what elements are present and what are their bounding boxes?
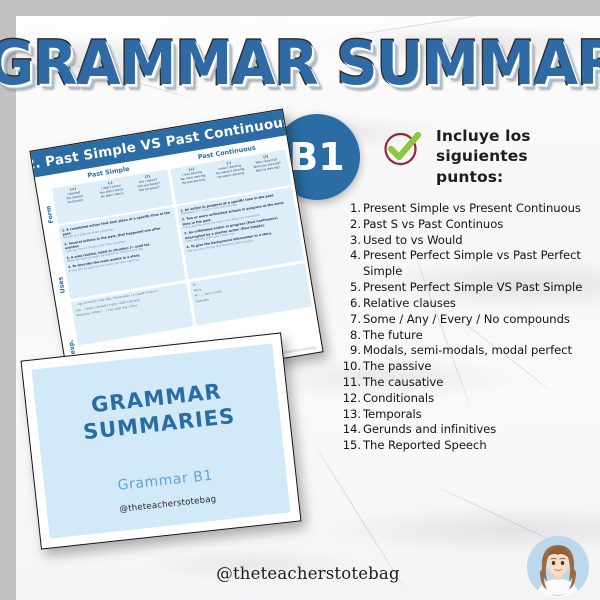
form-lines: I was dancing You were dancing He was da… [180,170,206,185]
list-item: 2.Past S vs Past Continuos [341,217,600,233]
list-item-label: Present Perfect Simple vs Past Perfect S… [363,248,600,280]
form-lines: I didn't dance You didn't dance He didn'… [100,184,124,199]
list-item-number: 15. [341,438,363,454]
list-item: 4.Present Perfect Simple vs Past Perfect… [341,248,600,280]
list-item: 14.Gerunds and infinitives [341,422,600,438]
form-interrogative: (?)Was I dancing? Were you dancing? Was … [248,152,288,188]
list-item-number: 4. [341,248,363,264]
list-item-number: 1. [341,201,363,217]
marble-vein [46,56,191,98]
list-item-label: Some / Any / Every / No compounds [363,312,600,328]
list-item: 9.Modals, semi-modals, modal perfect [341,343,600,359]
list-item: 13.Temporals [341,407,600,423]
cover-inner-panel: GRAMMAR SUMMARIES Grammar B1 @theteacher… [32,343,291,538]
form-affirmative: (+)I danced You danced He danced [55,184,95,220]
list-item-number: 6. [341,296,363,312]
list-item-label: Temporals [363,407,600,423]
cover-handle: @theteacherstotebag [119,495,217,515]
list-item: 8.The future [341,328,600,344]
list-item-number: 13. [341,407,363,423]
list-item: 11.The causative [341,375,600,391]
cover-title: GRAMMAR SUMMARIES [79,378,236,445]
list-item-label: Used to vs Would [363,233,600,249]
form-interrogative: (?)Did I dance? Did you dance? Did he da… [130,172,170,208]
list-item: 3.Used to vs Would [341,233,600,249]
list-item: 6.Relative clauses [341,296,600,312]
list-item-number: 9. [341,343,363,359]
level-badge-label: B1 [289,135,344,179]
form-lines: I danced You danced He danced [66,191,83,205]
list-item-label: The passive [363,359,600,375]
form-affirmative: (+)I was dancing You were dancing He was… [174,164,214,200]
list-item-number: 5. [341,280,363,296]
list-item-label: The Reported Speech [363,438,600,454]
list-item-label: The future [363,328,600,344]
list-item-label: The causative [363,375,600,391]
includes-header: Incluye los siguientes puntos: [380,126,592,187]
marble-vein [346,16,534,37]
list-item-label: Conditionals [363,391,600,407]
form-lines: Was I dancing? Were you dancing? Was he … [253,158,281,173]
cover-preview-card[interactable]: GRAMMAR SUMMARIES Grammar B1 @theteacher… [21,332,302,549]
list-item: 10.The passive [341,359,600,375]
list-item-label: Present Simple vs Present Continuous [363,201,600,217]
list-item-label: Present Perfect Simple VS Past Simple [363,280,600,296]
includes-heading: Incluye los siguientes puntos: [436,126,592,187]
list-item-number: 8. [341,328,363,344]
list-item-number: 14. [341,422,363,438]
list-item-number: 7. [341,312,363,328]
list-item-number: 10. [341,359,363,375]
list-item: 7.Some / Any / Every / No compounds [341,312,600,328]
list-item-number: 11. [341,375,363,391]
avatar [527,536,589,598]
list-item-label: Past S vs Past Continuos [363,217,600,233]
cover-subtitle: Grammar B1 [117,468,214,494]
list-item: 12.Conditionals [341,391,600,407]
includes-list: 1.Present Simple vs Present Continuous 2… [341,201,600,454]
list-item-label: Gerunds and infinitives [363,422,600,438]
list-item: 5.Present Perfect Simple VS Past Simple [341,280,600,296]
list-item-label: Modals, semi-modals, modal perfect [363,343,600,359]
check-circle-icon [380,126,424,170]
page-frame: GRAMMAR SUMMARIES B1 Incluye los siguien… [0,0,600,600]
bottom-watermark: @theteacherstotebag [8,564,600,583]
form-negative: (-)I didn't dance You didn't dance He di… [92,178,132,214]
list-item-number: 12. [341,391,363,407]
list-item-number: 3. [341,233,363,249]
form-lines: Did I dance? Did you dance? Did he dance… [137,178,160,193]
list-item-number: 2. [341,217,363,233]
list-item: 1.Present Simple vs Present Continuous [341,201,600,217]
list-item-label: Relative clauses [363,296,600,312]
list-item: 15.The Reported Speech [341,438,600,454]
form-negative: (-)I wasn't dancing You weren't dancing … [211,158,251,194]
